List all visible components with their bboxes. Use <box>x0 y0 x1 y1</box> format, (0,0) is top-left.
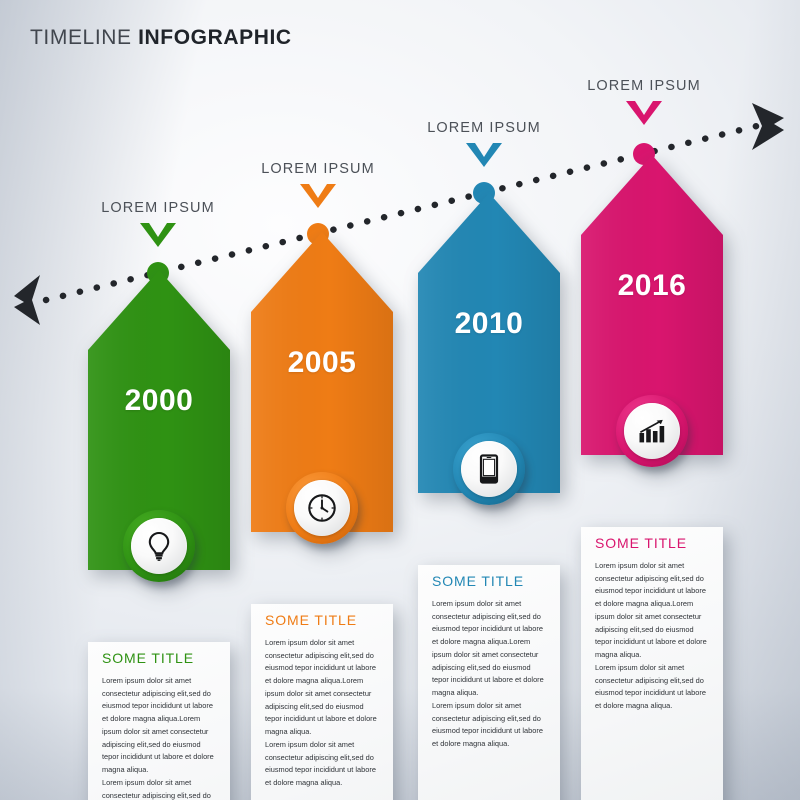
clock-icon <box>307 493 337 523</box>
card-body-2010: SOME TITLE Lorem ipsum dolor sit amet co… <box>418 565 560 800</box>
timeline-label-orange: LOREM IPSUM <box>261 161 375 177</box>
card-text-2000: Lorem ipsum dolor sit amet consectetur a… <box>102 675 216 800</box>
card-year-2000: 2000 <box>88 384 230 418</box>
timeline-card-2010[interactable]: 2010 SOME TITLE Lorem ipsum dolor sit am… <box>418 193 560 800</box>
card-badge-2000[interactable] <box>123 510 195 582</box>
card-text-2016: Lorem ipsum dolor sit amet consectetur a… <box>595 560 709 713</box>
card-text-2005: Lorem ipsum dolor sit amet consectetur a… <box>265 637 379 790</box>
card-badge-2005[interactable] <box>286 472 358 544</box>
card-paragraph-1: Lorem ipsum dolor sit amet consectetur a… <box>265 637 379 739</box>
card-badge-2016[interactable] <box>616 395 688 467</box>
card-year-2010: 2010 <box>418 307 560 341</box>
badge-inner-2010 <box>461 441 517 497</box>
chevron-down-orange-icon <box>298 182 338 210</box>
card-paragraph-2: Lorem ipsum dolor sit amet consectetur a… <box>595 662 709 713</box>
card-title-2005: SOME TITLE <box>265 604 379 628</box>
card-year-2016: 2016 <box>581 269 723 303</box>
card-paragraph-1: Lorem ipsum dolor sit amet consectetur a… <box>432 598 546 700</box>
card-body-2016: SOME TITLE Lorem ipsum dolor sit amet co… <box>581 527 723 800</box>
badge-inner-2005 <box>294 480 350 536</box>
card-paragraph-2: Lorem ipsum dolor sit amet consectetur a… <box>102 777 216 800</box>
card-paragraph-2: Lorem ipsum dolor sit amet consectetur a… <box>432 700 546 751</box>
card-paragraph-2: Lorem ipsum dolor sit amet consectetur a… <box>265 739 379 790</box>
timeline-card-2005[interactable]: 2005 SOME TITLE Lorem ipsum dolor sit am… <box>251 232 393 800</box>
card-paragraph-1: Lorem ipsum dolor sit amet consectetur a… <box>595 560 709 662</box>
card-year-2005: 2005 <box>251 346 393 380</box>
badge-inner-2016 <box>624 403 680 459</box>
chevron-down-blue-icon <box>464 141 504 169</box>
chevron-down-green-icon <box>138 221 178 249</box>
smartphone-icon <box>478 454 500 484</box>
card-text-2010: Lorem ipsum dolor sit amet consectetur a… <box>432 598 546 751</box>
card-title-2016: SOME TITLE <box>595 527 709 551</box>
arrow-left-end-icon <box>14 275 40 325</box>
card-body-2005: SOME TITLE Lorem ipsum dolor sit amet co… <box>251 604 393 800</box>
card-paragraph-1: Lorem ipsum dolor sit amet consectetur a… <box>102 675 216 777</box>
card-badge-2010[interactable] <box>453 433 525 505</box>
timeline-card-2000[interactable]: 2000 SOME TITLE Lorem ipsum dolor sit am… <box>88 270 230 800</box>
timeline-card-2016[interactable]: 2016 SOME TITLE Lorem ipsum dolor sit am… <box>581 155 723 800</box>
timeline-label-blue: LOREM IPSUM <box>427 120 541 136</box>
badge-inner-2000 <box>131 518 187 574</box>
card-body-2000: SOME TITLE Lorem ipsum dolor sit amet co… <box>88 642 230 800</box>
card-title-2000: SOME TITLE <box>102 642 216 666</box>
timeline-label-pink: LOREM IPSUM <box>587 78 701 94</box>
chevron-down-pink-icon <box>624 99 664 127</box>
lightbulb-icon <box>146 531 172 561</box>
bar-chart-growth-icon <box>637 418 667 444</box>
card-title-2010: SOME TITLE <box>432 565 546 589</box>
timeline-label-green: LOREM IPSUM <box>101 200 215 216</box>
